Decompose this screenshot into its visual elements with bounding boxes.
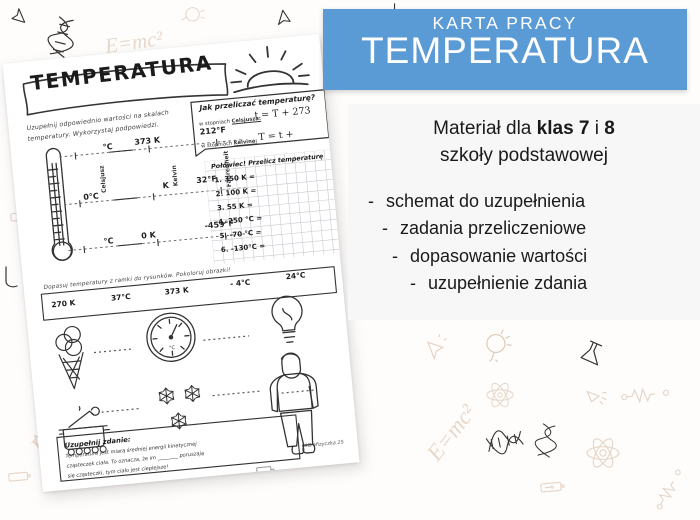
bullet-dash: - — [382, 215, 400, 242]
lightbulb-icon — [171, 0, 209, 36]
list-item-label: zadania przeliczeniowe — [400, 218, 586, 238]
battery-icon — [539, 479, 566, 495]
atom-icon — [485, 380, 515, 410]
list-item: -zadania przeliczeniowe — [348, 215, 700, 242]
list-item: -schemat do uzupełnienia — [348, 188, 700, 215]
poster-canvas: E=mc² E=mc² E=mc² E=mc² — [0, 0, 700, 520]
match-value-5: 24°C — [285, 270, 305, 281]
info-heading-line2: szkoły podstawowej — [440, 145, 608, 166]
info-heading-pre: Materiał dla — [433, 118, 537, 139]
cursor-arrow-icon — [270, 4, 301, 36]
resistor-icon — [649, 464, 686, 513]
formula-doodle-3: E=mc² — [422, 400, 481, 466]
match-value-2: 37°C — [111, 292, 131, 303]
swoosh-doodle — [2, 265, 24, 291]
info-heading-bold1: klas 7 — [537, 118, 590, 139]
list-item-label: uzupełnienie zdania — [428, 273, 587, 293]
worksheet-page[interactable]: TEMPERATURA Uzupełnij odpowiednio wartoś… — [2, 34, 359, 492]
header-banner: KARTA PRACY TEMPERATURA — [323, 9, 687, 90]
match-value-4: - 4°C — [230, 278, 251, 289]
lightbulb-icon — [472, 324, 521, 373]
info-heading-mid: i — [589, 118, 604, 139]
bullet-dash: - — [368, 188, 386, 215]
banner-title: TEMPERATURA — [361, 32, 649, 71]
flask-icon — [576, 336, 610, 370]
dna-helix-icon — [478, 426, 526, 459]
scale-value-k-mid: K — [162, 181, 169, 191]
worksheet-preview[interactable]: TEMPERATURA Uzupełnij odpowiednio wartoś… — [22, 48, 352, 500]
dna-helix-icon — [532, 421, 561, 464]
info-heading: Materiał dla klas 7 i 8 szkoły podstawow… — [348, 104, 700, 170]
cursor-arrow-icon — [423, 333, 453, 364]
atom-icon — [585, 435, 621, 471]
bullet-dash: - — [410, 270, 428, 297]
scale-value-c-bot: °C — [103, 236, 114, 246]
scale-value-c-top: °C — [102, 142, 113, 152]
feature-list: -schemat do uzupełnienia -zadania przeli… — [348, 188, 700, 297]
list-item-label: dopasowanie wartości — [410, 246, 587, 266]
magnet-icon — [582, 382, 610, 410]
ice-cream-icon — [49, 323, 95, 394]
scale-value-k-bot: 0 K — [141, 230, 156, 240]
small-battery-icon — [255, 464, 276, 478]
info-panel: Materiał dla klas 7 i 8 szkoły podstawow… — [348, 104, 700, 320]
list-item: -uzupełnienie zdania — [348, 270, 700, 297]
list-item: -dopasowanie wartości — [348, 243, 700, 270]
info-heading-bold2: 8 — [604, 118, 615, 139]
scale-value-c-mid: 0°C — [83, 191, 99, 201]
cursor-arrow-icon — [3, 3, 29, 30]
list-item-label: schemat do uzupełnienia — [386, 191, 585, 211]
bullet-dash: - — [392, 243, 410, 270]
resistor-icon — [619, 382, 671, 405]
